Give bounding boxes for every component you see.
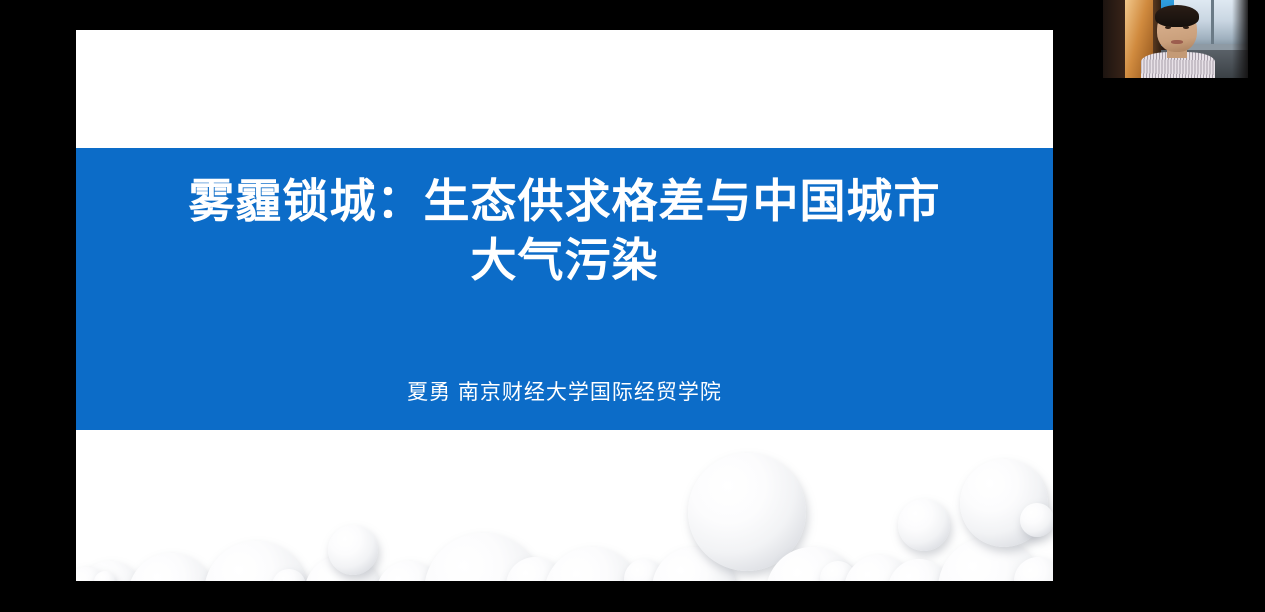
- slide-bottom-whitespace: [76, 430, 1053, 581]
- webcam-person-hair: [1155, 5, 1199, 27]
- screen-share-stage: 雾霾锁城：生态供求格差与中国城市 大气污染 夏勇 南京财经大学国际经贸学院: [0, 0, 1265, 612]
- bubble: [328, 525, 378, 575]
- webcam-wall: [1103, 0, 1125, 78]
- presentation-slide: 雾霾锁城：生态供求格差与中国城市 大气污染 夏勇 南京财经大学国际经贸学院: [76, 30, 1053, 581]
- bubble-decoration: [76, 430, 1053, 581]
- slide-top-whitespace: [76, 30, 1053, 148]
- webcam-edge-vignette: [1232, 0, 1248, 78]
- bubble: [898, 499, 950, 551]
- slide-title-line-2: 大气污染: [96, 231, 1034, 290]
- slide-title-line-1: 雾霾锁城：生态供求格差与中国城市: [96, 172, 1034, 231]
- slide-subtitle: 夏勇 南京财经大学国际经贸学院: [76, 376, 1053, 406]
- slide-title: 雾霾锁城：生态供求格差与中国城市 大气污染: [96, 172, 1034, 290]
- bubble: [128, 553, 214, 581]
- presenter-webcam-thumbnail[interactable]: [1103, 0, 1248, 78]
- webcam-person-eye-left: [1165, 26, 1171, 29]
- webcam-person-eye-right: [1183, 26, 1189, 29]
- slide-title-band: 雾霾锁城：生态供求格差与中国城市 大气污染 夏勇 南京财经大学国际经贸学院: [76, 148, 1053, 430]
- webcam-person-mouth: [1171, 40, 1183, 44]
- bubble: [1020, 503, 1053, 537]
